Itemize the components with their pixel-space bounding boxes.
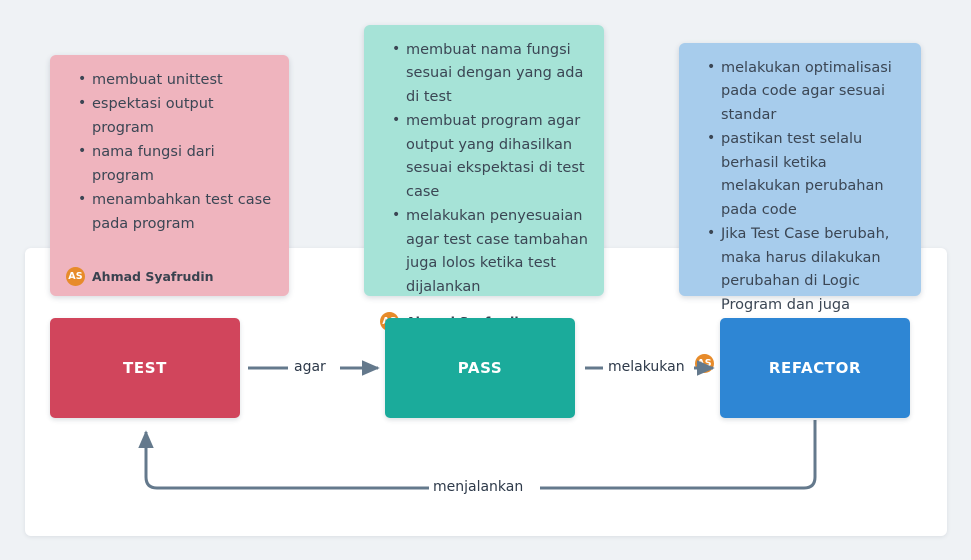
flow-node-pass[interactable]: PASS bbox=[385, 318, 575, 418]
flow-node-label: REFACTOR bbox=[769, 359, 861, 377]
list-item: espektasi output program bbox=[82, 93, 273, 140]
edge-label-menjalankan: menjalankan bbox=[429, 479, 527, 495]
edge-label-text: agar bbox=[294, 359, 326, 375]
avatar: AS bbox=[695, 354, 714, 373]
edge-label-text: melakukan bbox=[608, 359, 685, 375]
list-item: membuat nama fungsi sesuai dengan yang a… bbox=[396, 39, 588, 109]
list-item: menambahkan test case pada program bbox=[82, 189, 273, 236]
list-item: melakukan optimalisasi pada code agar se… bbox=[711, 57, 905, 127]
diagram-stage: membuat unittest espektasi output progra… bbox=[0, 0, 971, 560]
list-item: pastikan test selalu berhasil ketika mel… bbox=[711, 128, 905, 222]
flow-node-test[interactable]: TEST bbox=[50, 318, 240, 418]
note-card-pass[interactable]: membuat nama fungsi sesuai dengan yang a… bbox=[364, 25, 604, 296]
list-item: membuat program agar output yang dihasil… bbox=[396, 110, 588, 204]
author-name: Ahmad Syafrudin bbox=[92, 269, 214, 284]
flow-node-label: TEST bbox=[123, 359, 167, 377]
note-list: melakukan optimalisasi pada code agar se… bbox=[695, 57, 905, 342]
avatar: AS bbox=[66, 267, 85, 286]
note-card-refactor[interactable]: melakukan optimalisasi pada code agar se… bbox=[679, 43, 921, 296]
edge-label-melakukan: melakukan bbox=[608, 359, 685, 375]
note-list: membuat unittest espektasi output progra… bbox=[66, 69, 273, 237]
flow-node-refactor[interactable]: REFACTOR bbox=[720, 318, 910, 418]
note-list: membuat nama fungsi sesuai dengan yang a… bbox=[380, 39, 588, 300]
list-item: nama fungsi dari program bbox=[82, 141, 273, 188]
edge-label-text: menjalankan bbox=[433, 479, 523, 495]
note-card-test[interactable]: membuat unittest espektasi output progra… bbox=[50, 55, 289, 296]
list-item: membuat unittest bbox=[82, 69, 273, 92]
edge-label-agar: agar bbox=[294, 359, 326, 375]
note-author: AS Ahmad Syafrudin bbox=[66, 267, 273, 286]
flow-node-label: PASS bbox=[458, 359, 503, 377]
list-item: melakukan penyesuaian agar test case tam… bbox=[396, 205, 588, 299]
